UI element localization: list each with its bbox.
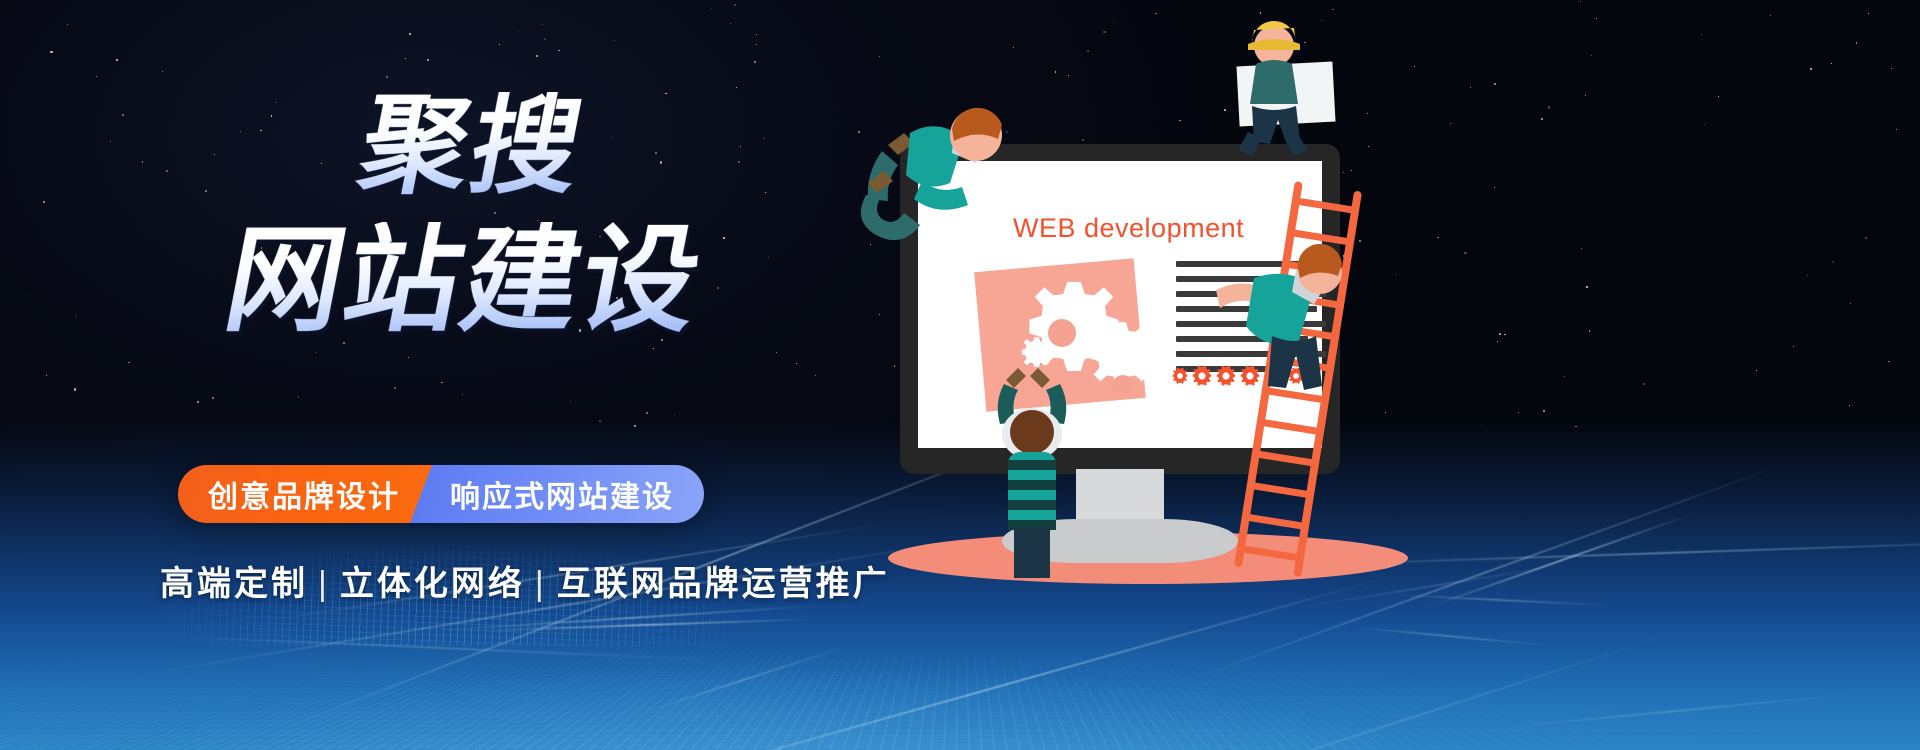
star (166, 170, 167, 171)
star (815, 375, 816, 376)
star (1596, 18, 1597, 19)
star (734, 4, 736, 6)
star (1585, 95, 1586, 96)
star (441, 382, 442, 383)
star (405, 58, 406, 59)
star (1856, 42, 1858, 44)
gear-hub (1112, 375, 1134, 397)
star (614, 40, 615, 41)
star (1499, 333, 1501, 335)
star (653, 348, 654, 349)
gear-hub (1048, 319, 1076, 347)
ladder-rung (1241, 513, 1309, 531)
brand-title-line-1: 聚搜 (352, 92, 889, 200)
person-child (962, 364, 1102, 584)
star (197, 401, 199, 403)
star (298, 397, 299, 398)
star (122, 114, 124, 116)
ladder-rung (1291, 197, 1359, 215)
star (1891, 68, 1893, 70)
star (128, 362, 129, 363)
service-pill: 创意品牌设计 响应式网站建设 (178, 465, 704, 523)
star (96, 76, 97, 77)
star (110, 141, 111, 142)
ladder-rung (1246, 481, 1314, 499)
star (1793, 346, 1794, 347)
star (1770, 15, 1772, 17)
star (674, 414, 675, 415)
star (1849, 405, 1850, 406)
star (50, 51, 52, 53)
web-development-illustration: WEB development (880, 14, 1480, 750)
star (1810, 68, 1812, 70)
ladder-rung (1251, 450, 1319, 468)
tagline-part-1: 高端定制 (160, 565, 308, 603)
tagline-separator-2: | (525, 565, 557, 603)
star (1504, 334, 1505, 335)
star (116, 59, 118, 61)
star (427, 59, 429, 61)
hero-banner: 聚搜 网站建设 创意品牌设计 响应式网站建设 高端定制|立体化网络|互联网品牌运… (0, 0, 1920, 750)
tagline-separator-1: | (308, 565, 340, 603)
star (75, 316, 76, 317)
star (499, 44, 500, 45)
star (462, 394, 464, 396)
ladder-rung (1236, 545, 1304, 563)
star (776, 352, 777, 353)
star (1701, 34, 1702, 35)
gear-icon (1172, 368, 1188, 384)
star (518, 31, 519, 32)
gear-icon (1192, 366, 1212, 386)
star (1494, 187, 1495, 188)
star (1718, 96, 1719, 97)
star (536, 55, 538, 57)
person-on-top (1210, 14, 1340, 174)
star (67, 24, 68, 25)
screen-title: WEB development (1013, 213, 1244, 244)
ladder-rung (1256, 418, 1324, 436)
person-hanging (858, 99, 1038, 259)
star (212, 397, 214, 399)
star (796, 363, 797, 364)
tagline-part-3: 互联网品牌运营推广 (557, 565, 890, 603)
star (1850, 303, 1851, 304)
star (1591, 55, 1593, 57)
star (1564, 376, 1565, 377)
star (315, 352, 316, 353)
star (1832, 261, 1834, 263)
tagline-part-2: 立体化网络 (340, 565, 525, 603)
star (1865, 237, 1867, 239)
star (756, 34, 758, 36)
star (408, 357, 409, 358)
star (754, 61, 756, 63)
star (1518, 412, 1519, 413)
star (162, 71, 163, 72)
tagline: 高端定制|立体化网络|互联网品牌运营推广 (160, 556, 890, 605)
star (386, 76, 388, 78)
star (46, 375, 47, 376)
person-top-figure (1210, 14, 1340, 174)
star (1807, 275, 1808, 276)
star (29, 295, 30, 296)
star (558, 50, 560, 52)
star (1868, 13, 1869, 14)
star (544, 38, 546, 40)
star (1643, 383, 1645, 385)
gear-icon (1022, 337, 1052, 367)
star (394, 387, 396, 389)
star (1580, 1, 1581, 2)
pill-responsive-site[interactable]: 响应式网站建设 (410, 465, 704, 523)
star (1589, 330, 1591, 332)
star (142, 161, 143, 162)
star (1548, 106, 1550, 108)
star (1831, 63, 1832, 64)
star (1543, 410, 1545, 412)
star (1896, 129, 1897, 130)
star (1541, 118, 1543, 120)
star (1586, 286, 1588, 288)
star (74, 388, 76, 390)
star (1332, 9, 1334, 11)
star (646, 412, 648, 414)
star (711, 8, 712, 9)
person-on-ladder (1210, 244, 1360, 404)
star (1494, 83, 1496, 85)
star (1756, 370, 1757, 371)
pill-creative-branding[interactable]: 创意品牌设计 (178, 465, 432, 523)
brand-title-line-2: 网站建设 (217, 222, 890, 338)
star (1704, 124, 1705, 125)
star (1497, 341, 1498, 342)
star (1888, 361, 1890, 363)
star (730, 23, 731, 24)
star (542, 24, 543, 25)
star (1581, 248, 1582, 249)
star (43, 201, 45, 203)
star (736, 87, 737, 88)
star (756, 44, 757, 45)
hero-copy: 聚搜 网站建设 (178, 92, 878, 338)
star (409, 33, 411, 35)
star (570, 401, 571, 402)
